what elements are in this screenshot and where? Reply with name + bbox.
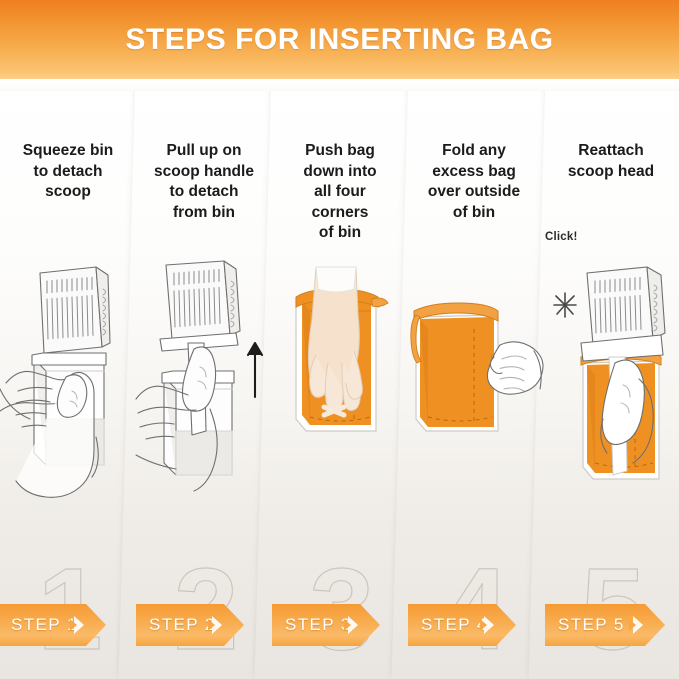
step-banner-label-3: STEP 3: [285, 615, 352, 635]
step-banner-label-4: STEP 4: [421, 615, 488, 635]
step-caption-1: Squeeze binto detachscoop: [0, 141, 136, 203]
step-banner-5[interactable]: STEP 5: [545, 604, 665, 646]
chevron-right-icon: [212, 616, 222, 634]
step-column-1: Squeeze binto detachscoop 1: [0, 79, 136, 679]
step-caption-2: Pull up onscoop handleto detachfrom bin: [136, 141, 272, 223]
chevron-right-icon: [633, 616, 643, 634]
step-banner-1[interactable]: STEP 1: [0, 604, 106, 646]
step-column-5: Reattachscoop head 5 Click!: [543, 79, 679, 679]
step-column-2: Pull up onscoop handleto detachfrom bin …: [136, 79, 272, 679]
step-illustration-5: [543, 259, 679, 509]
step-caption-3: Push bagdown intoall fourcornersof bin: [272, 141, 408, 244]
chevron-right-icon: [348, 616, 358, 634]
infographic-root: STEPS FOR INSERTING BAG Squeeze binto de…: [0, 0, 679, 679]
step-banner-label-5: STEP 5: [558, 615, 625, 635]
step-banner-label-2: STEP 2: [149, 615, 216, 635]
step-illustration-2: [136, 259, 272, 509]
step-illustration-4: [406, 259, 542, 509]
page-title: STEPS FOR INSERTING BAG: [125, 23, 553, 57]
step-banner-3[interactable]: STEP 3: [272, 604, 380, 646]
step-banner-row: STEP 1 STEP 2 STEP 3 STEP 4 STEP 5: [0, 604, 679, 646]
click-annotation: Click!: [545, 231, 578, 243]
step-banner-2[interactable]: STEP 2: [136, 604, 244, 646]
header-banner: STEPS FOR INSERTING BAG: [0, 0, 679, 79]
step-banner-label-1: STEP 1: [11, 615, 78, 635]
header-fade-divider: [0, 79, 679, 91]
step-column-3: Push bagdown intoall fourcornersof bin 3: [272, 79, 408, 679]
chevron-right-icon: [74, 616, 84, 634]
step-caption-5: Reattachscoop head: [543, 141, 679, 182]
step-caption-4: Fold anyexcess bagover outsideof bin: [406, 141, 542, 223]
step-column-4: Fold anyexcess bagover outsideof bin 4: [406, 79, 542, 679]
chevron-right-icon: [484, 616, 494, 634]
step-illustration-3: [272, 259, 408, 509]
step-banner-4[interactable]: STEP 4: [408, 604, 516, 646]
step-illustration-1: [0, 259, 136, 509]
